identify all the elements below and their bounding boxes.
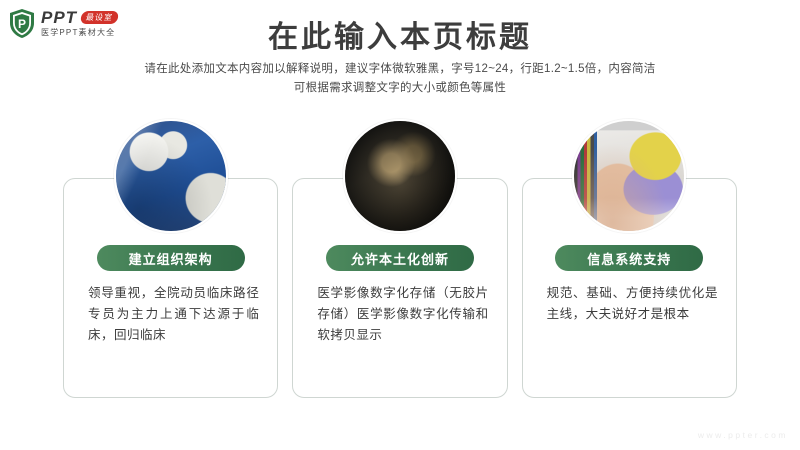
card-row: 建立组织架构 领导重视，全院动员临床路径专员为主力上通下达源于临床，回归临床 允… <box>63 178 737 398</box>
card-body-3: 规范、基础、方便持续优化是主线，大夫说好才是根本 <box>547 283 718 325</box>
subtitle-line-1: 请在此处添加文本内容加以解释说明，建议字体微软雅黑，字号12~24，行距1.2~… <box>0 60 800 79</box>
card-image-3 <box>572 119 686 233</box>
card-body-1: 领导重视，全院动员临床路径专员为主力上通下达源于临床，回归临床 <box>88 283 259 346</box>
card-image-2 <box>343 119 457 233</box>
content-card-3[interactable]: 信息系统支持 规范、基础、方便持续优化是主线，大夫说好才是根本 <box>522 178 737 398</box>
card-image-1 <box>114 119 228 233</box>
page-subtitle: 请在此处添加文本内容加以解释说明，建议字体微软雅黑，字号12~24，行距1.2~… <box>0 60 800 98</box>
card-label-3[interactable]: 信息系统支持 <box>555 245 703 271</box>
card-body-2: 医学影像数字化存储（无胶片存储）医学影像数字化传输和软拷贝显示 <box>317 283 488 346</box>
slide-canvas: P PPT 最设室 医学PPT素材大全 在此输入本页标题 请在此处添加文本内容加… <box>0 0 800 450</box>
card-label-2[interactable]: 允许本土化创新 <box>326 245 474 271</box>
watermark: www.ppter.com <box>698 430 788 440</box>
content-card-2[interactable]: 允许本土化创新 医学影像数字化存储（无胶片存储）医学影像数字化传输和软拷贝显示 <box>292 178 507 398</box>
subtitle-line-2: 可根据需求调整文字的大小或颜色等属性 <box>0 79 800 98</box>
content-card-1[interactable]: 建立组织架构 领导重视，全院动员临床路径专员为主力上通下达源于临床，回归临床 <box>63 178 278 398</box>
card-label-1[interactable]: 建立组织架构 <box>97 245 245 271</box>
page-title: 在此输入本页标题 <box>0 12 800 56</box>
